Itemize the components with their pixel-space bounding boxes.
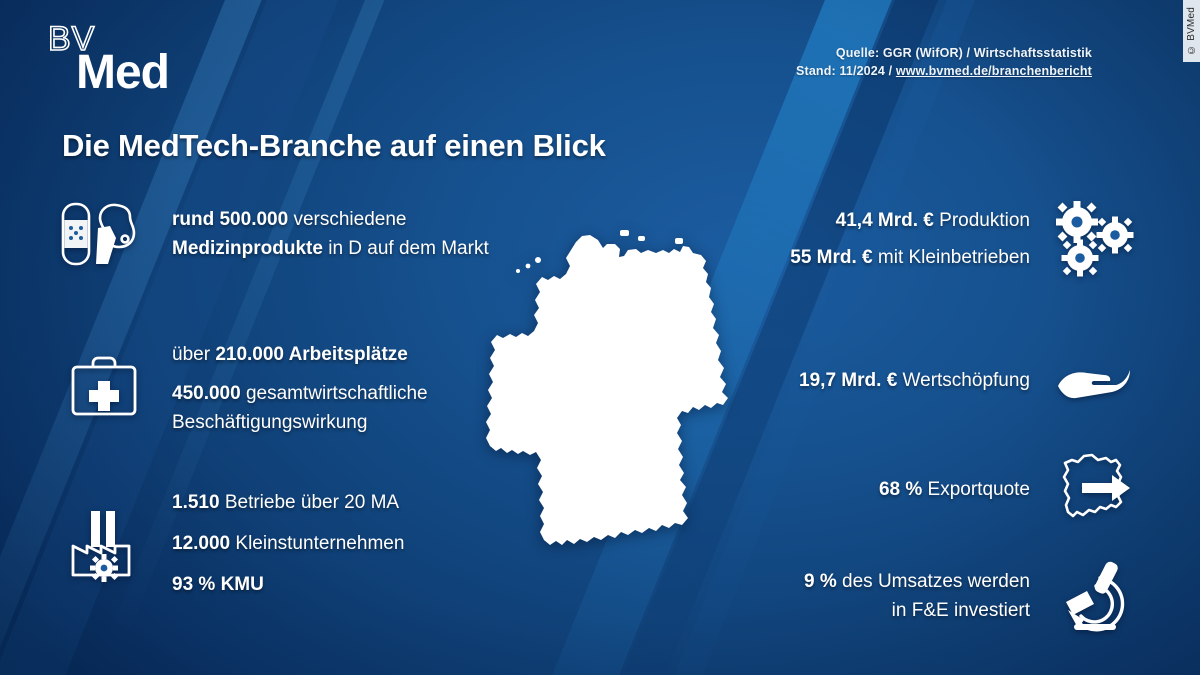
- stat-line: 450.000 gesamtwirtschaftliche: [172, 379, 428, 408]
- stat-line: in F&E investiert: [804, 596, 1030, 625]
- stat-block-wertschoepfung: 19,7 Mrd. € Wertschöpfung: [799, 358, 1138, 402]
- stat-line-spacer: [172, 517, 404, 529]
- stat-line: Beschäftigungswirkung: [172, 408, 428, 437]
- figure-betriebe: 1.510: [172, 492, 220, 513]
- stat-line-rest: Beschäftigungswirkung: [172, 412, 367, 433]
- source-note: Quelle: GGR (WifOR) / Wirtschaftsstatist…: [796, 44, 1092, 80]
- figure-produktion-kleinbetriebe: 55 Mrd. €: [790, 247, 872, 268]
- stat-line: Medizinprodukte in D auf dem Markt: [172, 234, 489, 263]
- stat-text-exportquote: 68 % Exportquote: [879, 475, 1030, 504]
- figure-wertschoepfung: 19,7 Mrd. €: [799, 370, 897, 391]
- stat-line-rest: des Umsatzes werden: [837, 571, 1030, 592]
- stat-line-rest: Produktion: [934, 210, 1030, 231]
- stat-block-produktion: 41,4 Mrd. € Produktion 55 Mrd. € mit Kle…: [790, 200, 1138, 278]
- factory-gear-icon: [58, 505, 150, 583]
- stat-line-rest: über: [172, 344, 215, 365]
- stat-line-spacer: [790, 235, 1030, 243]
- page-title: Die MedTech-Branche auf einen Blick: [62, 128, 606, 164]
- stat-line: 19,7 Mrd. € Wertschöpfung: [799, 366, 1030, 395]
- figure-arbeitsplaetze: 210.000 Arbeitsplätze: [215, 344, 408, 365]
- source-line-1: Quelle: GGR (WifOR) / Wirtschaftsstatist…: [796, 44, 1092, 62]
- stat-line: 12.000 Kleinstunternehmen: [172, 529, 404, 558]
- stat-block-fue: 9 % des Umsatzes werden in F&E investier…: [804, 558, 1138, 634]
- stat-line: 55 Mrd. € mit Kleinbetrieben: [790, 243, 1030, 272]
- stat-block-medizinprodukte: rund 500.000 verschiedene Medizinprodukt…: [58, 198, 489, 270]
- stat-line: 68 % Exportquote: [879, 475, 1030, 504]
- stat-block-betriebe: 1.510 Betriebe über 20 MA 12.000 Kleinst…: [58, 488, 404, 599]
- copyright-strip: © BVMed: [1183, 0, 1200, 62]
- export-arrow-map-icon: [1050, 452, 1138, 526]
- stat-text-medizinprodukte: rund 500.000 verschiedene Medizinprodukt…: [172, 205, 489, 263]
- stat-line-rest: in D auf dem Markt: [323, 238, 489, 259]
- bandage-implant-icon: [58, 198, 150, 270]
- bvmed-logo[interactable]: BV Med: [26, 18, 276, 92]
- copyright-text: © BVMed: [1186, 7, 1197, 55]
- stat-line-strong: Medizinprodukte: [172, 238, 323, 259]
- infographic-canvas: BV Med Quelle: GGR (WifOR) / Wirtschafts…: [0, 0, 1200, 675]
- first-aid-kit-icon: [58, 353, 150, 425]
- figure-exportquote: 68 %: [879, 479, 922, 500]
- stat-line: 1.510 Betriebe über 20 MA: [172, 488, 404, 517]
- source-link[interactable]: www.bvmed.de/branchenbericht: [896, 64, 1092, 78]
- stat-line-rest: Wertschöpfung: [897, 370, 1030, 391]
- figure-kmu: 93 % KMU: [172, 574, 264, 595]
- stat-text-produktion: 41,4 Mrd. € Produktion 55 Mrd. € mit Kle…: [790, 206, 1030, 272]
- stat-line-rest: Betriebe über 20 MA: [220, 492, 400, 513]
- stat-line-rest: Exportquote: [922, 479, 1030, 500]
- figure-beschaeftigungswirkung: 450.000: [172, 383, 241, 404]
- gears-icon: [1050, 200, 1138, 278]
- stat-line: 93 % KMU: [172, 570, 404, 599]
- stat-text-wertschoepfung: 19,7 Mrd. € Wertschöpfung: [799, 366, 1030, 395]
- figure-produktion: 41,4 Mrd. €: [836, 210, 934, 231]
- stat-block-exportquote: 68 % Exportquote: [879, 452, 1138, 526]
- logo-med-text: Med: [76, 46, 169, 92]
- stat-line-rest: verschiedene: [288, 209, 406, 230]
- figure-medizinprodukte: rund 500.000: [172, 209, 288, 230]
- stat-text-betriebe: 1.510 Betriebe über 20 MA 12.000 Kleinst…: [172, 488, 404, 599]
- stat-block-arbeitsplaetze: über 210.000 Arbeitsplätze 450.000 gesam…: [58, 340, 428, 437]
- stat-line-rest: gesamtwirtschaftliche: [241, 383, 428, 404]
- germany-map: [470, 222, 760, 622]
- stat-text-arbeitsplaetze: über 210.000 Arbeitsplätze 450.000 gesam…: [172, 340, 428, 437]
- stat-line: über 210.000 Arbeitsplätze: [172, 340, 428, 369]
- stat-line-rest: mit Kleinbetrieben: [873, 247, 1030, 268]
- figure-kleinstunternehmen: 12.000: [172, 533, 230, 554]
- stat-text-fue: 9 % des Umsatzes werden in F&E investier…: [804, 567, 1030, 625]
- stat-line: rund 500.000 verschiedene: [172, 205, 489, 234]
- figure-fue: 9 %: [804, 571, 837, 592]
- stat-line-spacer: [172, 369, 428, 379]
- stat-line-rest: Kleinstunternehmen: [230, 533, 404, 554]
- source-date: Stand: 11/2024 /: [796, 64, 896, 78]
- stat-line: 41,4 Mrd. € Produktion: [790, 206, 1030, 235]
- stat-line: 9 % des Umsatzes werden: [804, 567, 1030, 596]
- source-line-2: Stand: 11/2024 / www.bvmed.de/branchenbe…: [796, 62, 1092, 80]
- stat-line-spacer: [172, 558, 404, 570]
- microscope-icon: [1050, 558, 1138, 634]
- open-hand-icon: [1050, 358, 1138, 402]
- stat-line-rest: in F&E investiert: [892, 600, 1030, 621]
